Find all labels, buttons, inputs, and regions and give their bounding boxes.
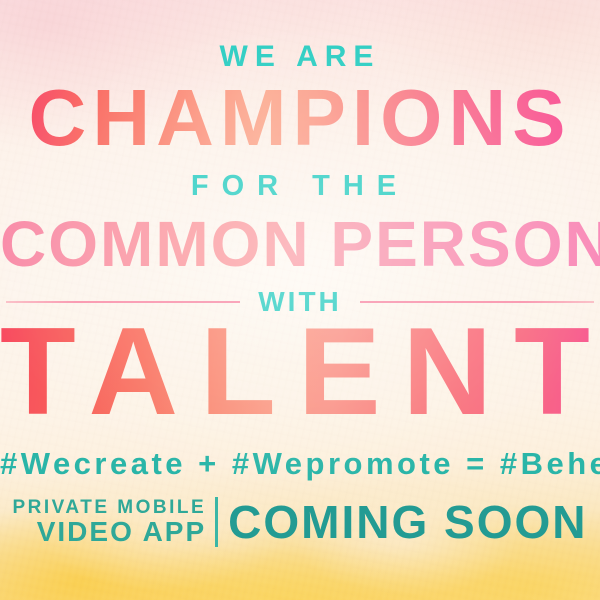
- headline-champions: CHAMPIONS: [0, 78, 600, 158]
- hashtag-equation: #Wecreate + #Wepromote = #Beheard: [0, 448, 600, 479]
- headline-common-person: COMMON PERSON: [0, 212, 600, 276]
- eyebrow-we-are: WE ARE: [0, 42, 600, 72]
- poster-canvas: WE ARE CHAMPIONS FOR THE COMMON PERSON W…: [0, 0, 600, 600]
- app-tagline: PRIVATE MOBILE VIDEO APP: [12, 498, 215, 547]
- app-tagline-line-2: VIDEO APP: [12, 518, 206, 547]
- vertical-divider: [215, 497, 218, 547]
- poster-content: WE ARE CHAMPIONS FOR THE COMMON PERSON W…: [0, 0, 600, 600]
- eyebrow-for-the: FOR THE: [0, 172, 600, 201]
- bottom-row: PRIVATE MOBILE VIDEO APP COMING SOON: [0, 497, 600, 547]
- headline-talent: TALENT: [0, 310, 600, 434]
- app-tagline-line-1: PRIVATE MOBILE: [12, 498, 206, 517]
- coming-soon-announcement: COMING SOON: [228, 499, 587, 545]
